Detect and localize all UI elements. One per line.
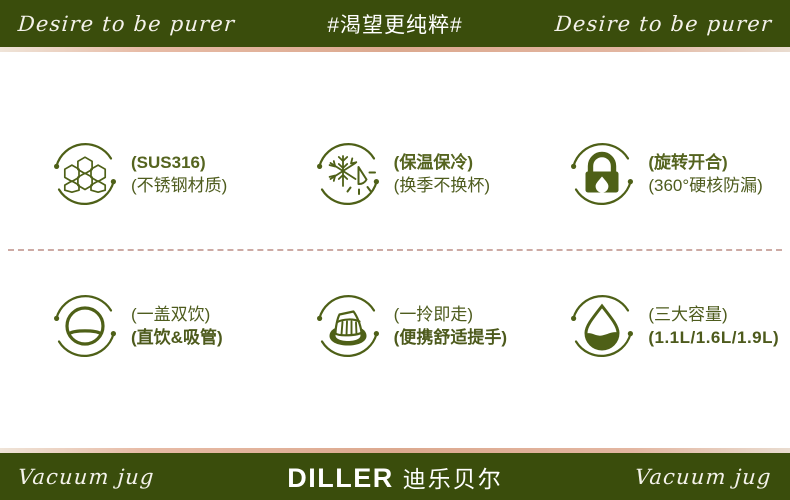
hand-grip-handle-icon: [311, 289, 385, 363]
feature-line-1: (SUS316): [131, 151, 227, 174]
feature-line-2: (直饮&吸管): [131, 326, 223, 349]
feature-line-2: (便携舒适提手): [394, 326, 507, 349]
feature-line-1: (一拎即走): [394, 303, 507, 326]
honeycomb-recycle-icon: [48, 137, 122, 211]
padlock-droplet-icon: [565, 137, 639, 211]
footer-right-tagline: Vacuum jug: [635, 465, 773, 489]
feature-line-1: (保温保冷): [394, 151, 490, 174]
snowflake-sun-icon: [311, 137, 385, 211]
feature-item-stainless-steel: (SUS316) (不锈钢材质): [0, 137, 273, 211]
feature-labels: (旋转开合) (360°硬核防漏): [648, 151, 762, 198]
brand-name-cn: 迪乐贝尔: [403, 460, 503, 494]
feature-item-thermal: (保温保冷) (换季不换杯): [273, 137, 536, 211]
feature-line-1: (一盖双饮): [131, 303, 223, 326]
feature-line-1: (旋转开合): [648, 151, 762, 174]
feature-item-dual-drink: (一盖双饮) (直饮&吸管): [0, 289, 273, 363]
product-feature-banner: Desire to be purer #渴望更纯粹# Desire to be …: [0, 0, 790, 500]
feature-labels: (一盖双饮) (直饮&吸管): [131, 303, 223, 350]
feature-line-2: (不锈钢材质): [131, 174, 227, 197]
feature-labels: (一拎即走) (便携舒适提手): [394, 303, 507, 350]
header-center-title: #渴望更纯粹#: [327, 9, 462, 39]
header-right-tagline: Desire to be purer: [554, 12, 773, 36]
cup-lid-topview-icon: [48, 289, 122, 363]
feature-item-handle: (一拎即走) (便携舒适提手): [273, 289, 536, 363]
feature-item-leakproof: (旋转开合) (360°硬核防漏): [535, 137, 790, 211]
feature-labels: (保温保冷) (换季不换杯): [394, 151, 490, 198]
header-left-tagline: Desire to be purer: [17, 12, 236, 36]
feature-item-capacity: (三大容量) (1.1L/1.6L/1.9L): [535, 289, 790, 363]
feature-labels: (SUS316) (不锈钢材质): [131, 151, 227, 198]
feature-labels: (三大容量) (1.1L/1.6L/1.9L): [648, 303, 779, 350]
features-area: (SUS316) (不锈钢材质): [0, 52, 790, 448]
footer-bar: Vacuum jug DILLER 迪乐贝尔 Vacuum jug: [0, 453, 790, 500]
feature-line-2: (1.1L/1.6L/1.9L): [648, 326, 779, 349]
feature-line-2: (换季不换杯): [394, 174, 490, 197]
header-bar: Desire to be purer #渴望更纯粹# Desire to be …: [0, 0, 790, 47]
footer-brand: DILLER 迪乐贝尔: [287, 460, 503, 494]
feature-row-bottom: (一盖双饮) (直饮&吸管): [0, 251, 790, 401]
feature-line-1: (三大容量): [648, 303, 779, 326]
water-droplet-icon: [565, 289, 639, 363]
brand-name-en: DILLER: [287, 463, 394, 494]
footer-left-tagline: Vacuum jug: [17, 465, 155, 489]
feature-row-top: (SUS316) (不锈钢材质): [0, 99, 790, 249]
feature-line-2: (360°硬核防漏): [648, 174, 762, 197]
header-hashtag-text: #渴望更纯粹#: [327, 9, 462, 39]
